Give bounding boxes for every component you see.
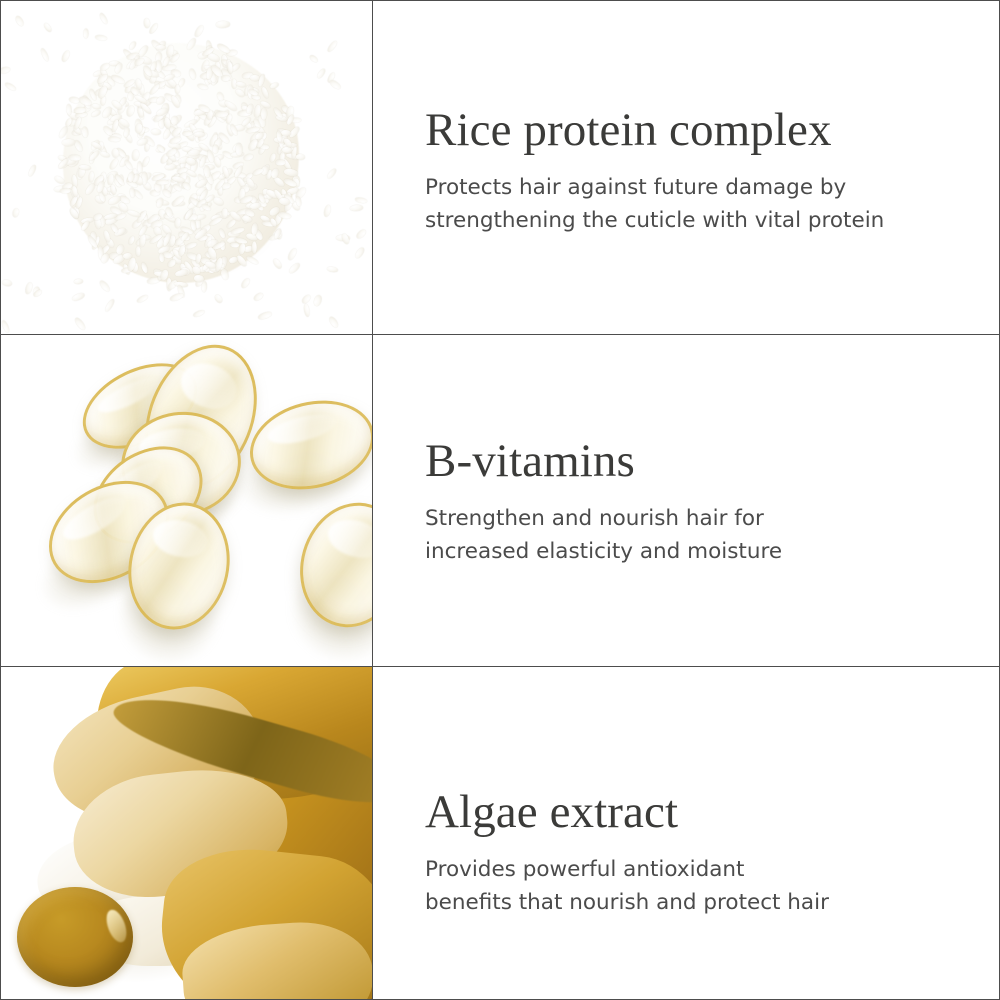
rice-grains-photo [1, 1, 372, 334]
rice-grain [39, 47, 50, 62]
rice-grain [135, 293, 148, 304]
rice-grain [253, 291, 264, 301]
rice-description-line-2: strengthening the cuticle with vital pro… [425, 204, 959, 237]
rice-grain [1, 320, 11, 334]
vitamins-text-block: B-vitamins Strengthen and nourish hair f… [372, 334, 999, 666]
rice-grain [235, 143, 242, 155]
rice-grain [313, 294, 323, 307]
rice-grain [287, 261, 301, 274]
rice-grain [83, 29, 88, 39]
rice-grain [275, 160, 285, 166]
section-divider-2 [1, 666, 999, 667]
rice-grain [328, 79, 341, 91]
rice-grain [44, 22, 53, 33]
rice-grain [143, 18, 150, 28]
rice-grain [104, 298, 116, 312]
algae-description-line-1: Provides powerful antioxidant [425, 853, 959, 886]
rice-grain [327, 40, 339, 53]
algae-title: Algae extract [425, 786, 959, 839]
vitamins-title: B-vitamins [425, 435, 959, 488]
rice-grain [60, 50, 71, 63]
rice-grain [280, 130, 290, 136]
rice-grain [182, 130, 193, 135]
vitamins-description: Strengthen and nourish hair for increase… [425, 502, 959, 569]
rice-grain [354, 247, 366, 260]
rice-grain [213, 294, 223, 305]
algae-text-block: Algae extract Provides powerful antioxid… [372, 666, 999, 999]
rice-grain [98, 13, 108, 26]
rice-grain [74, 317, 87, 332]
gel-capsules-illustration [1, 334, 372, 666]
rice-grain [272, 257, 283, 270]
vitamins-description-line-1: Strengthen and nourish hair for [425, 502, 959, 535]
gel-capsules-photo [1, 334, 372, 666]
rice-grain [326, 266, 338, 273]
ingredient-section-vitamins: B-vitamins Strengthen and nourish hair f… [1, 334, 999, 666]
rice-grain [350, 204, 364, 211]
rice-grain [128, 40, 137, 50]
algae-oil-drop [17, 887, 133, 987]
rice-grain [14, 15, 25, 28]
rice-grain [1, 66, 11, 75]
media-text-divider [372, 1, 373, 999]
rice-grain [149, 22, 160, 34]
ingredient-section-algae: Algae extract Provides powerful antioxid… [1, 666, 999, 999]
rice-grain [258, 310, 273, 320]
ingredient-section-rice: Rice protein complex Protects hair again… [1, 1, 999, 334]
ingredient-infographic: Rice protein complex Protects hair again… [0, 0, 1000, 1000]
rice-grain [355, 197, 368, 204]
rice-grain [1, 279, 12, 287]
rice-grain [287, 247, 298, 261]
rice-grain [316, 68, 327, 80]
rice-grain [12, 208, 20, 219]
rice-grain [192, 23, 205, 38]
rice-grain [156, 180, 169, 185]
rice-grain [260, 108, 266, 120]
rice-grain [98, 279, 111, 293]
section-divider-1 [1, 334, 999, 335]
rice-grain [252, 241, 257, 253]
vitamins-description-line-2: increased elasticity and moisture [425, 535, 959, 568]
rice-grain [72, 292, 86, 303]
rice-grain [216, 21, 230, 28]
rice-grain [212, 144, 218, 153]
rice-grain [326, 167, 338, 180]
rice-grain [328, 315, 340, 328]
rice-grain [169, 292, 184, 302]
rice-grain [355, 228, 367, 239]
algae-description: Provides powerful antioxidant benefits t… [425, 853, 959, 920]
rice-text-block: Rice protein complex Protects hair again… [372, 1, 999, 334]
rice-description: Protects hair against future damage by s… [425, 171, 959, 238]
rice-pile-illustration [1, 1, 372, 334]
rice-grain [239, 277, 250, 289]
rice-description-line-1: Protects hair against future damage by [425, 171, 959, 204]
rice-grain [204, 166, 210, 178]
rice-grain [156, 44, 166, 49]
rice-grain [308, 54, 318, 64]
rice-grain [4, 81, 17, 92]
rice-title: Rice protein complex [425, 104, 959, 157]
algae-description-line-2: benefits that nourish and protect hair [425, 886, 959, 919]
rice-grain [341, 233, 351, 246]
rice-grain [95, 35, 108, 42]
rice-grain [303, 304, 310, 318]
rice-grain [202, 281, 208, 292]
rice-grain [74, 278, 84, 284]
rice-grain [74, 106, 86, 113]
rice-grain [81, 127, 88, 138]
rice-grain [322, 204, 331, 218]
rice-grain [27, 164, 37, 177]
rice-grain [192, 309, 205, 318]
